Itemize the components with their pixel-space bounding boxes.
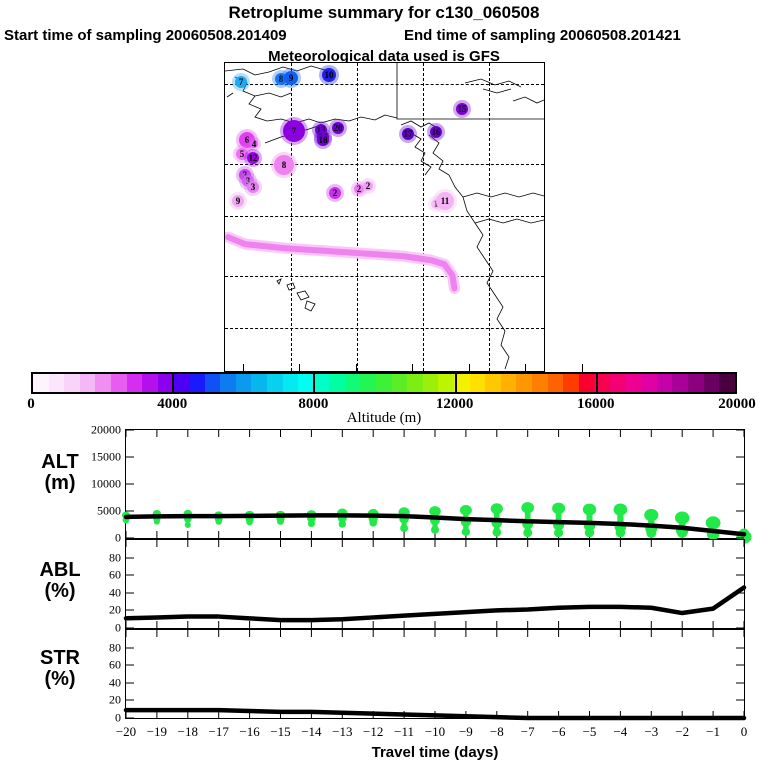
colorbar-minor-tick [299,364,300,372]
x-tick-label: −11 [394,724,414,740]
alt-marker[interactable] [616,528,626,538]
alt-marker[interactable] [462,528,470,536]
colorbar-swatch [298,374,314,392]
map-marker-label: 4 [252,139,257,149]
map-marker-label: 16 [432,127,441,137]
colorbar-swatch [501,374,517,392]
colorbar-swatch [236,374,252,392]
y-tick-label: 10000 [51,477,126,492]
colorbar-minor-tick [356,364,357,372]
map-marker-label: 7 [292,126,297,136]
alt-marker[interactable] [706,516,721,529]
alt-plot[interactable]: 05000100001500020000 [125,429,745,539]
y-tick-right [736,700,744,701]
x-axis-title: Travel time (days) [125,744,745,761]
y-tick-label: 5000 [51,504,126,519]
colorbar-swatch [329,374,345,392]
colorbar-swatch [641,374,657,392]
alt-marker[interactable] [246,519,253,526]
abl-plot[interactable]: 020406080 [125,539,745,629]
y-tick [126,430,134,431]
colorbar-swatch [470,374,486,392]
y-tick-label: 40 [51,675,126,690]
colorbar-swatch [376,374,392,392]
x-tick-label: −9 [459,724,473,740]
y-tick [126,665,134,666]
colorbar-swatch [657,374,673,392]
x-tick-label: −6 [552,724,566,740]
colorbar-swatch [532,374,548,392]
alt-marker[interactable] [460,505,472,516]
x-tick-label: −19 [147,724,167,740]
colorbar-swatch [407,374,423,392]
alt-marker[interactable] [491,503,503,514]
map-marker-label: 18 [319,135,328,145]
map-marker-label: 9 [289,73,294,83]
map-marker-label: 9 [236,196,241,206]
y-tick-label: 60 [51,568,126,583]
colorbar-swatch [283,374,299,392]
y-tick-right [736,610,744,611]
colorbar-minor-tick [582,364,583,372]
alt-marker[interactable] [431,526,439,534]
x-tick-label: −14 [301,724,321,740]
colorbar-swatch [392,374,408,392]
colorbar-swatch [423,374,439,392]
alt-marker[interactable] [400,524,408,532]
colorbar-swatch [142,374,158,392]
y-tick-right [736,575,744,576]
y-tick [126,557,134,558]
alt-marker[interactable] [583,504,596,516]
alt-marker[interactable] [185,522,191,528]
alt-marker[interactable] [308,520,315,527]
colorbar-swatch [173,374,189,392]
colorbar-swatch [80,374,96,392]
map-marker-label: 3 [251,182,256,192]
x-tick-label: −7 [521,724,535,740]
alt-marker[interactable] [277,518,284,525]
colorbar-swatch [33,374,49,392]
colorbar-swatch [688,374,704,392]
alt-marker[interactable] [585,528,594,537]
colorbar-swatch [158,374,174,392]
y-tick [126,682,134,683]
colorbar-swatch [251,374,267,392]
x-tick-label: −4 [613,724,627,740]
y-tick-label: 20 [51,603,126,618]
alt-marker[interactable] [154,519,160,525]
y-tick [126,575,134,576]
colorbar-swatch [267,374,283,392]
colorbar-swatch [95,374,111,392]
y-tick [126,700,134,701]
map-marker-label: 17 [404,129,413,139]
y-tick [126,484,134,485]
alt-marker[interactable] [644,509,658,521]
x-tick-label: 0 [741,724,748,740]
y-tick-right [736,665,744,666]
y-tick-right [736,718,744,719]
y-tick-label: 60 [51,658,126,673]
y-tick-label: 0 [51,621,126,636]
colorbar-swatch [548,374,564,392]
colorbar-swatch [360,374,376,392]
alt-marker[interactable] [521,502,534,513]
altitude-colorbar[interactable] [31,372,737,394]
alt-marker[interactable] [675,511,689,524]
y-tick [126,592,134,593]
colorbar-minor-tick [243,364,244,372]
colorbar-swatch [516,374,532,392]
alt-marker[interactable] [216,518,222,524]
y-tick-right [736,457,744,458]
y-tick-label: 80 [51,550,126,565]
colorbar-swatch [220,374,236,392]
colorbar-swatch [111,374,127,392]
colorbar-divider-1 [313,372,315,394]
y-tick [126,610,134,611]
retroplume-map[interactable]: 789101517167131418206451283339222111 [224,62,545,372]
alt-marker[interactable] [646,528,656,538]
alt-marker[interactable] [554,528,563,537]
y-tick-label: 15000 [51,450,126,465]
x-tick-label: −12 [363,724,383,740]
colorbar-swatch [610,374,626,392]
page-title: Retroplume summary for c130_060508 [0,3,768,23]
x-tick-label: −10 [425,724,445,740]
colorbar-swatch [345,374,361,392]
colorbar-swatch [127,374,143,392]
y-tick-label: 80 [51,640,126,655]
map-marker-label: 7 [239,77,244,87]
x-tick-label: −1 [706,724,720,740]
alt-marker[interactable] [614,504,628,516]
map-marker-label: 20 [334,123,343,133]
colorbar-swatch [205,374,221,392]
colorbar-swatch [704,374,720,392]
colorbar-minor-tick [412,364,413,372]
map-marker-label: 10 [325,70,334,80]
x-tick-label: −20 [116,724,136,740]
y-tick-right [736,484,744,485]
alt-plot-canvas [126,430,744,538]
x-tick-label: −8 [490,724,504,740]
colorbar-swatch [672,374,688,392]
map-marker-label: 12 [249,153,258,163]
x-tick-label: −2 [675,724,689,740]
y-tick-label: 20000 [51,423,126,438]
y-tick-right [736,592,744,593]
colorbar-divider-3 [596,372,598,394]
y-tick-right [736,647,744,648]
alt-marker[interactable] [523,528,532,537]
map-marker-label: 2 [366,181,371,191]
y-tick-label: 20 [51,693,126,708]
y-tick-right [736,557,744,558]
alt-marker[interactable] [429,506,441,516]
alt-marker[interactable] [339,520,346,527]
colorbar-minor-tick [469,364,470,372]
colorbar-swatch [563,374,579,392]
y-tick-right [736,511,744,512]
colorbar-divider-0 [172,372,174,394]
alt-marker[interactable] [552,503,565,514]
x-tick-label: −17 [209,724,229,740]
x-tick-label: −13 [332,724,352,740]
y-tick [126,457,134,458]
y-tick-right [736,682,744,683]
colorbar-divider-2 [455,372,457,394]
x-tick-label: −15 [270,724,290,740]
trajectory-svg [225,63,544,371]
colorbar-swatch [626,374,642,392]
colorbar-swatch [485,374,501,392]
colorbar-swatch [719,374,735,392]
y-tick [126,718,134,719]
str-plot[interactable]: 020406080 [125,629,745,719]
x-tick-label: −18 [178,724,198,740]
map-marker-label: 8 [282,160,287,170]
colorbar-swatch [579,374,595,392]
colorbar-minor-tick [525,364,526,372]
y-tick-right [736,430,744,431]
x-tick-label: −16 [239,724,259,740]
y-tick-label: 40 [51,585,126,600]
x-tick-label: −5 [583,724,597,740]
end-time-label: End time of sampling 20060508.201421 [404,27,681,44]
y-tick-label: 0 [51,711,126,726]
colorbar-swatch [314,374,330,392]
colorbar-swatch [64,374,80,392]
colorbar-swatch [189,374,205,392]
map-marker-label: 11 [441,196,450,206]
alt-marker[interactable] [492,528,501,537]
y-tick [126,511,134,512]
abl-plot-canvas [126,540,744,628]
str-plot-canvas [126,630,744,718]
map-marker-label: 2 [333,188,338,198]
start-time-label: Start time of sampling 20060508.201409 [4,27,287,44]
alt-marker[interactable] [369,519,377,527]
x-tick-label: −3 [644,724,658,740]
y-tick-label: 0 [51,531,126,546]
colorbar-swatch [49,374,65,392]
map-marker-label: 15 [458,104,467,114]
y-tick [126,647,134,648]
abl-line [126,588,744,621]
colorbar-swatch [438,374,454,392]
